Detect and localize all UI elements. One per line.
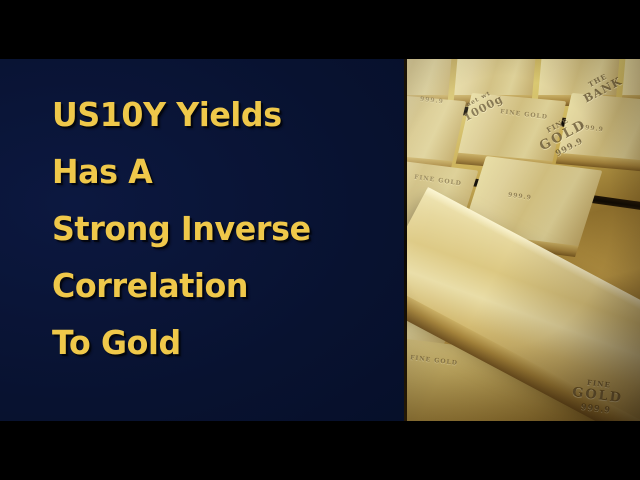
- letterbox-bar-bottom: [0, 421, 640, 480]
- gold-bar: [454, 59, 536, 97]
- title-panel: US10Y Yields Has A Strong Inverse Correl…: [0, 59, 404, 421]
- headline-line-5: To Gold: [52, 314, 378, 371]
- video-frame: US10Y Yields Has A Strong Inverse Correl…: [0, 0, 640, 480]
- gold-bar: [622, 59, 640, 97]
- headline-line-3: Strong Inverse: [52, 200, 378, 257]
- letterbox-bar-top: [0, 0, 640, 59]
- gold-bars-photo: 999.9 FINE GOLD 999.9 FINE GOLD 999.9 FI…: [404, 59, 640, 421]
- gold-bar: [458, 93, 567, 163]
- gold-bar: [558, 93, 640, 163]
- content-band: US10Y Yields Has A Strong Inverse Correl…: [0, 59, 640, 421]
- headline: US10Y Yields Has A Strong Inverse Correl…: [52, 86, 392, 371]
- gold-bar: [538, 59, 620, 97]
- headline-line-2: Has A: [52, 143, 378, 200]
- gold-bar: [404, 59, 452, 97]
- headline-line-4: Correlation: [52, 257, 378, 314]
- headline-line-1: US10Y Yields: [52, 86, 378, 143]
- photo-left-seam: [404, 59, 407, 421]
